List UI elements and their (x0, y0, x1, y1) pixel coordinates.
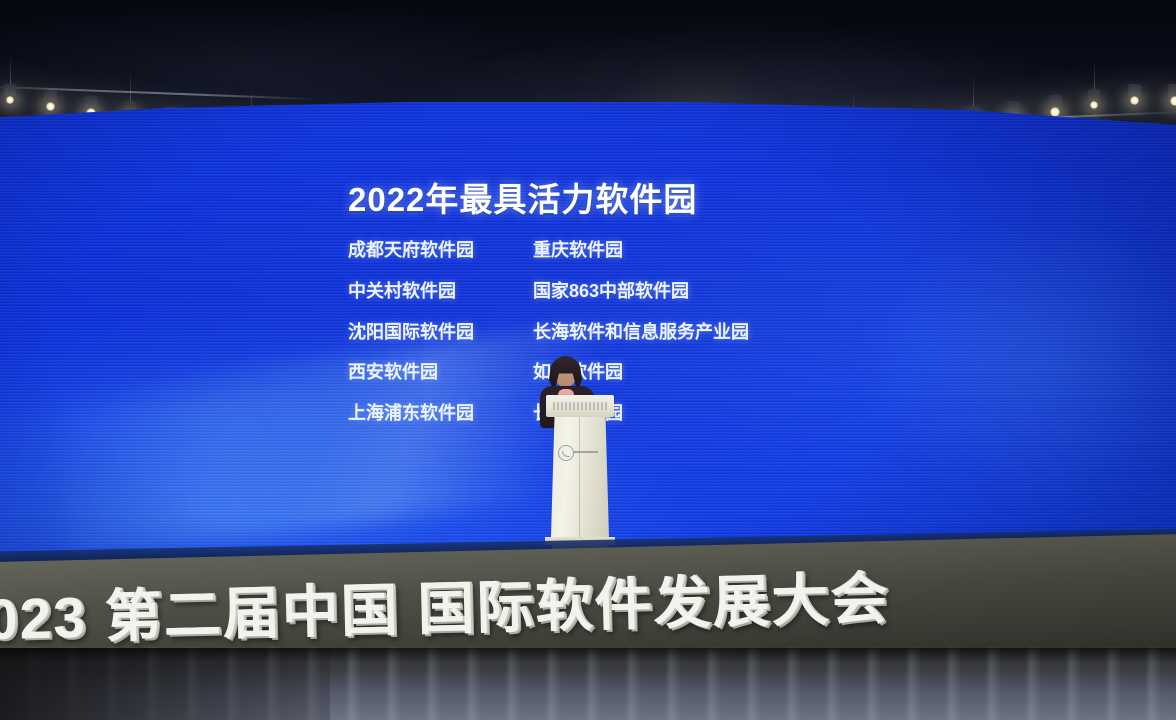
park-name-item: 重庆软件园 (533, 240, 778, 261)
park-name-item: 西安软件园 (348, 362, 533, 383)
park-name-item: 成都天府软件园 (348, 240, 533, 261)
led-right-glow (852, 216, 1176, 516)
stage-spotlight-icon (1130, 96, 1139, 105)
stage-spotlight-icon (1170, 96, 1176, 106)
park-name-item: 上海浦东软件园 (348, 403, 533, 424)
park-name-item: 长海软件和信息服务产业园 (533, 322, 778, 343)
podium-body (551, 417, 609, 537)
park-name-item: 中关村软件园 (348, 281, 533, 302)
stage-spotlight-icon (6, 96, 14, 104)
stage-spotlight-icon (46, 102, 55, 111)
swirl-circle-logo-icon (558, 445, 574, 461)
slide-title: 2022年最具活力软件园 (348, 182, 778, 218)
stage-spotlight-icon (1090, 101, 1098, 109)
podium-name-plate (553, 402, 607, 410)
stage-photo: 2022年最具活力软件园 成都天府软件园重庆软件园中关村软件园国家863中部软件… (0, 0, 1176, 720)
podium-logo-line (574, 451, 598, 453)
floor-top-shadow (0, 648, 1176, 662)
stage-spotlight-icon (1050, 107, 1060, 117)
park-name-item: 国家863中部软件园 (533, 281, 778, 302)
podium-seam (579, 417, 580, 537)
venue-floor (0, 648, 1176, 720)
park-name-item: 沈阳国际软件园 (348, 322, 533, 343)
